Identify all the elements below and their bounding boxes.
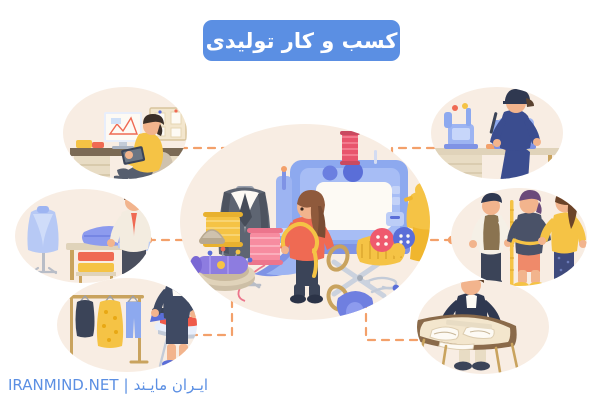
tailors-chalk — [337, 291, 373, 328]
page-title: کسب و کار تولیدی — [206, 29, 398, 53]
watermark-separator: | — [124, 376, 129, 394]
center-scene — [180, 124, 444, 328]
watermark-farsi: ایـران مایـند — [134, 376, 209, 394]
watermark: IRANMIND.NET | ایـران مایـند — [8, 376, 208, 394]
scene-fabric-cutting — [15, 189, 172, 295]
page-title-badge: کسب و کار تولیدی — [203, 20, 400, 61]
watermark-site: IRANMIND.NET — [8, 376, 119, 394]
scene-machine-operator — [431, 87, 563, 205]
scene-pattern-making — [414, 270, 550, 374]
scene-measuring-customer — [451, 188, 587, 292]
infographic-canvas: کسب و کار تولیدی IRANMIND.NET | ایـران م… — [0, 0, 600, 400]
scene-design-desk — [63, 87, 188, 204]
fabric-roll — [190, 256, 248, 274]
